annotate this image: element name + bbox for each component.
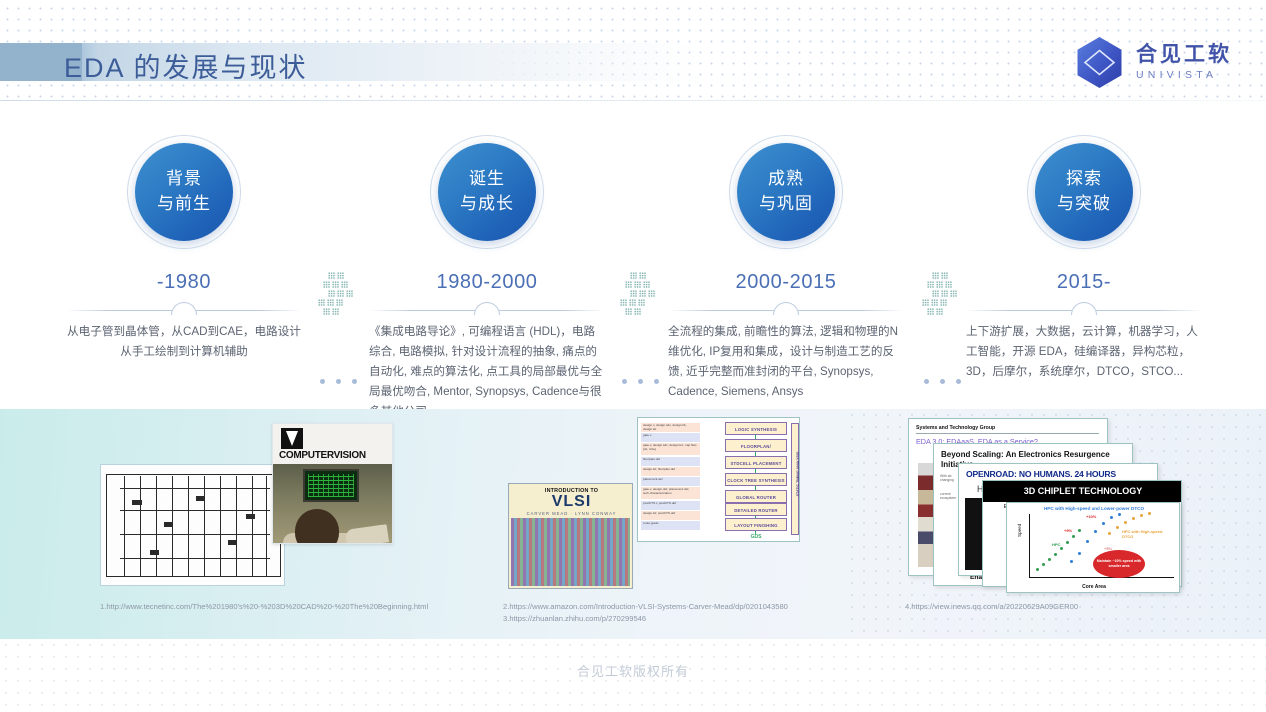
slide5-annotation-hpc-dtco: HPC with High-speed DTCO: [1122, 529, 1174, 539]
slide5-annotation-plus10: +10%: [1086, 514, 1096, 519]
flow-input-6: gate.v, design.def, placement.def, tech.…: [641, 487, 700, 499]
node-title-line1-2: 诞生: [469, 167, 505, 192]
slide4-title: 3D CHIPLET TECHNOLOGY: [983, 481, 1182, 502]
caption-2: 2.https://www.amazon.com/Introduction-VL…: [503, 601, 788, 613]
node-desc-4: 上下游扩展，大数据，云计算，机器学习，人工智能，开源 EDA，硅编译器，异构芯粒…: [966, 322, 1202, 382]
node-circle-2: 诞生 与成长: [438, 143, 536, 241]
flow-input-4: design.lef, floorplan.def: [641, 467, 700, 476]
flow-input-1: gate.v: [641, 433, 700, 442]
flow-step-4: GLOBAL ROUTER: [725, 490, 787, 503]
vlsi-chip-layout-art: [511, 518, 630, 586]
vlsi-title-big: VLSI: [509, 493, 633, 511]
slide5-xlabel: Core Area: [1007, 584, 1180, 590]
flow-step-2: STDCELL PLACEMENT: [725, 456, 787, 469]
vlsi-authors: CARVER MEAD · LYNN CONWAY: [509, 511, 633, 516]
node-title-line2-3: 与巩固: [759, 192, 813, 217]
slide3-title: OPENROAD: NO HUMANS. 24 HOURS: [966, 469, 1116, 479]
node-divider-1: [66, 301, 302, 311]
slide5-annotation-hpc: HPC: [1052, 542, 1060, 547]
node-circle-wrap-2: 诞生 与成长: [438, 143, 536, 241]
flow-step-0: LOGIC SYNTHESIS: [725, 422, 787, 435]
node-title-line1-4: 探索: [1066, 167, 1102, 192]
node-divider-2: [369, 301, 605, 311]
hexagon-diamond-logo-icon: [1075, 36, 1124, 89]
slide-dtco-chart: HPC with High-speed and Lower-power DTCO…: [1006, 502, 1180, 593]
caption-4: 4.https://view.inews.qq.com/a/20220629A0…: [905, 601, 1078, 613]
node-circle-wrap-3: 成熟 与巩固: [737, 143, 835, 241]
node-desc-2: 《集成电路导论》, 可编程语言 (HDL)，电路综合, 电路模拟, 针对设计流程…: [369, 322, 605, 422]
page-footer: 合见工软版权所有: [0, 639, 1266, 712]
eda-future-slide-stack: Systems and Technology Group EDA 3.0: ED…: [908, 418, 1180, 593]
caption-3: 3.https://zhuanlan.zhihu.com/p/270299546: [503, 613, 646, 625]
flow-sta-label: STATIC TIMING ANALYSIS: [796, 444, 800, 504]
crt-monitor: [303, 469, 359, 502]
flow-input-2: gate.v, design.sdc, design.lef, .cap fil…: [641, 443, 700, 455]
flow-input-9: route.guide: [641, 521, 700, 530]
flow-step-1: FLOORPLAN/ POWERPLAN: [725, 439, 787, 452]
node-year-2: 1980-2000: [339, 271, 635, 294]
slide5-callout-text: Maintain ~10% speed with smaller area: [1093, 550, 1145, 578]
node-circle-4: 探索 与突破: [1035, 143, 1133, 241]
timeline-node-1[interactable]: 背景 与前生 -1980 从电子管到晶体管，从CAD到CAE，电路设计从手工绘制…: [36, 104, 332, 362]
timeline-node-3[interactable]: 成熟 与巩固 2000-2015 全流程的集成, 前瞻性的算法, 逻辑和物理的N…: [638, 104, 934, 402]
node-title-line1-1: 背景: [166, 167, 202, 192]
node-circle-1: 背景 与前生: [135, 143, 233, 241]
page-title: EDA 的发展与现状: [64, 46, 308, 85]
node-title-line1-3: 成熟: [768, 167, 804, 192]
slide5-annotation-plus9: +9%: [1064, 528, 1072, 533]
node-circle-wrap-1: 背景 与前生: [135, 143, 233, 241]
flow-input-8: design.lef, postCTS.def: [641, 511, 700, 520]
brand-logo: 合见工软 UNIVISTA: [1075, 36, 1232, 89]
operator-head: [295, 509, 339, 544]
node-title-line2-2: 与成长: [460, 192, 514, 217]
slide5-ylabel: Speed: [1017, 524, 1022, 537]
node-desc-1: 从电子管到晶体管，从CAD到CAE，电路设计从手工绘制到计算机辅助: [66, 322, 302, 362]
computervision-photo: COMPUTERVISION: [272, 423, 393, 544]
node-divider-3: [668, 301, 904, 311]
flow-input-3: floorplan.def: [641, 457, 700, 466]
node-year-4: 2015-: [936, 271, 1232, 294]
logo-company-cn: 合见工软: [1136, 44, 1232, 65]
node-title-line2-4: 与突破: [1057, 192, 1111, 217]
caption-1: 1.http://www.tecnetinc.com/The%201980's%…: [100, 601, 428, 613]
timeline-node-2[interactable]: 诞生 与成长 1980-2000 《集成电路导论》, 可编程语言 (HDL)，电…: [339, 104, 635, 422]
node-year-3: 2000-2015: [638, 271, 934, 294]
flow-step-5: DETAILED ROUTER: [725, 503, 787, 516]
node-year-1: -1980: [36, 271, 332, 294]
computervision-header: COMPUTERVISION: [273, 424, 393, 464]
header-divider: [0, 100, 1266, 101]
node-circle-wrap-4: 探索 与突破: [1035, 143, 1133, 241]
eda-flow-diagram: design.v, design.sdc, design.lib, design…: [637, 417, 800, 542]
flow-input-0: design.v, design.sdc, design.lib, design…: [641, 423, 700, 432]
node-title-line2-1: 与前生: [157, 192, 211, 217]
computervision-brand: COMPUTERVISION: [279, 450, 366, 461]
flow-step-3: CLOCK TREE SYNTHESIS: [725, 473, 787, 486]
slide5-header: HPC with High-speed and Lower-power DTCO: [1007, 506, 1180, 511]
node-desc-3: 全流程的集成, 前瞻性的算法, 逻辑和物理的N维优化, IP复用和集成，设计与制…: [668, 322, 904, 402]
flow-input-7: postCTS.v, postCTS.def: [641, 501, 700, 510]
flow-output-gds: GDS: [725, 534, 787, 540]
computervision-logo-icon: [281, 428, 303, 449]
vlsi-book-cover: INTRODUCTION TO VLSI CARVER MEAD · LYNN …: [508, 483, 633, 589]
flow-step-6: LAYOUT FINISHING: [725, 518, 787, 531]
flow-sta-band: STATIC TIMING ANALYSIS: [791, 423, 799, 535]
flow-input-5: placement.def: [641, 477, 700, 486]
copyright-text: 合见工软版权所有: [0, 661, 1266, 680]
node-divider-4: [966, 301, 1202, 311]
timeline: 背景 与前生 -1980 从电子管到晶体管，从CAD到CAE，电路设计从手工绘制…: [0, 104, 1266, 409]
operator-arm: [345, 524, 389, 544]
logo-company-en: UNIVISTA: [1136, 70, 1232, 81]
cad-terminal-photo: [273, 464, 393, 544]
node-circle-3: 成熟 与巩固: [737, 143, 835, 241]
slide4-title-bar: 3D CHIPLET TECHNOLOGY: [983, 481, 1182, 502]
circuit-schematic-image: [100, 464, 285, 586]
slide1-kicker: Systems and Technology Group: [916, 425, 995, 431]
timeline-node-4[interactable]: 探索 与突破 2015- 上下游扩展，大数据，云计算，机器学习，人工智能，开源 …: [936, 104, 1232, 382]
slide5-callout-bubble: Maintain ~10% speed with smaller area: [1093, 550, 1145, 578]
